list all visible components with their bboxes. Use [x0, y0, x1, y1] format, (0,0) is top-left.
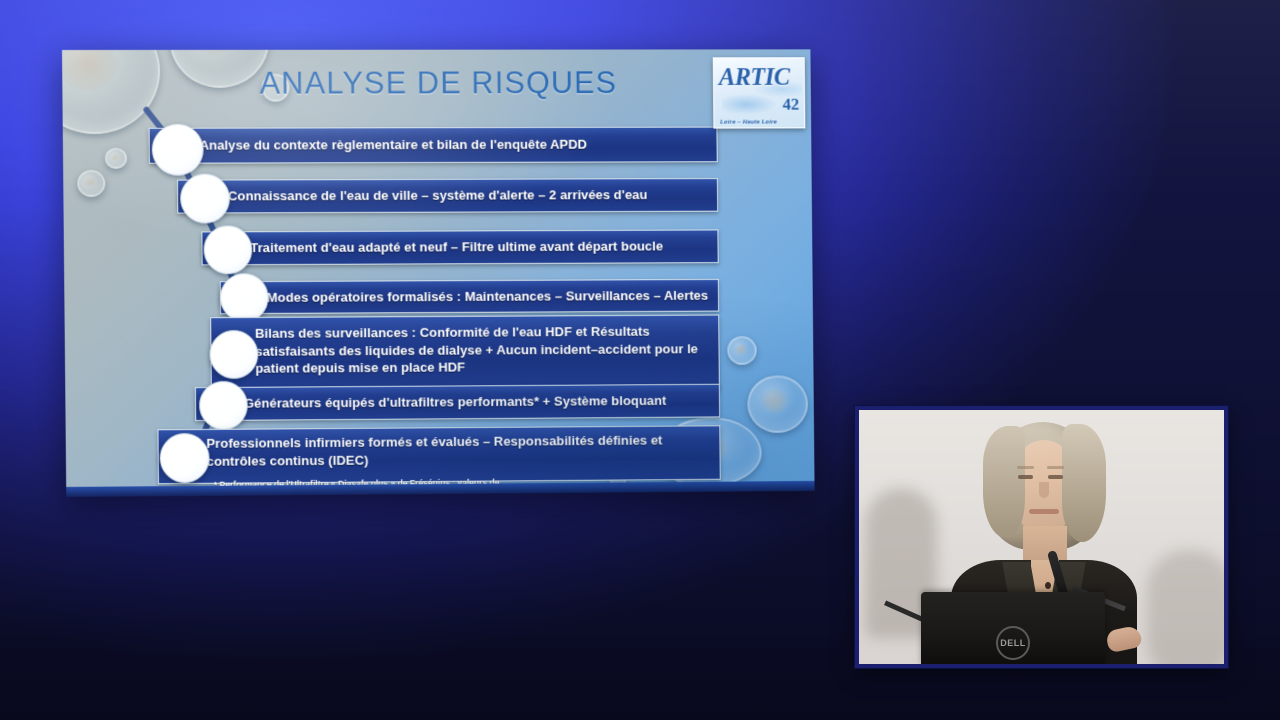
video-frame: DELL: [859, 410, 1224, 664]
speaker-video-inset[interactable]: DELL: [855, 406, 1228, 668]
mouth-shape: [1029, 509, 1059, 514]
projected-slide: ANALYSE DE RISQUES ARTIC 42 Loire – Haut…: [62, 49, 815, 497]
flow-item-label: Bilans des surveillances : Conformité de…: [255, 324, 698, 376]
eye-left: [1018, 475, 1033, 479]
flow-step-marker: [220, 273, 269, 322]
nose-shape: [1039, 482, 1049, 498]
bubble-decoration: [105, 148, 127, 169]
hair-front-left: [983, 426, 1025, 538]
dell-logo: DELL: [996, 626, 1030, 660]
artic-logo: ARTIC 42 Loire – Haute Loire: [713, 57, 806, 128]
flow-item-bar: Professionnels infirmiers formés et éval…: [157, 425, 720, 484]
flow-step-marker: [203, 225, 252, 274]
flow-item-label: Modes opératoires formalisés : Maintenan…: [267, 287, 709, 307]
flow-row: Bilans des surveillances : Conformité de…: [210, 315, 720, 392]
flow-row: Générateurs équipés d'ultrafiltres perfo…: [195, 384, 720, 421]
flow-item-bar: Traitement d'eau adapté et neuf – Filtre…: [201, 229, 718, 265]
necklace-pendant: [1045, 582, 1051, 589]
logo-subtitle: Loire – Haute Loire: [720, 120, 777, 126]
slide-title: ANALYSE DE RISQUES: [62, 65, 811, 102]
flow-step-marker: [209, 330, 258, 379]
slide-canvas: ANALYSE DE RISQUES ARTIC 42 Loire – Haut…: [62, 49, 815, 497]
flow-item-label: Analyse du contexte règlementaire et bil…: [199, 136, 587, 154]
bubble-decoration: [747, 375, 808, 433]
hair-front-right: [1062, 424, 1106, 542]
eyebrow-right: [1047, 466, 1064, 469]
flow-step-marker: [199, 381, 248, 430]
wall-shadow: [1147, 550, 1224, 664]
bubble-decoration: [727, 336, 757, 365]
laptop: DELL: [921, 592, 1105, 664]
eye-right: [1048, 475, 1063, 479]
flow-item-label: Connaissance de l'eau de ville – système…: [228, 186, 648, 205]
flow-item-bar: Analyse du contexte règlementaire et bil…: [149, 127, 718, 164]
presentation-stage: ANALYSE DE RISQUES ARTIC 42 Loire – Haut…: [0, 0, 1280, 720]
eyebrow-left: [1017, 466, 1034, 469]
logo-name: ARTIC: [719, 64, 790, 92]
flow-row: Traitement d'eau adapté et neuf – Filtre…: [201, 229, 718, 265]
flow-row: Modes opératoires formalisés : Maintenan…: [220, 279, 719, 314]
flow-row: Professionnels infirmiers formés et éval…: [157, 425, 720, 484]
bubble-decoration: [77, 170, 105, 197]
flow-row: Analyse du contexte règlementaire et bil…: [149, 127, 718, 164]
flow-step-marker: [180, 174, 230, 224]
logo-number: 42: [783, 95, 800, 115]
flow-item-label: Professionnels infirmiers formés et éval…: [206, 433, 662, 469]
flow-row: Connaissance de l'eau de ville – système…: [177, 178, 718, 214]
flow-item-label: Traitement d'eau adapté et neuf – Filtre…: [250, 238, 663, 257]
flow-item-bar: Modes opératoires formalisés : Maintenan…: [220, 279, 719, 314]
flow-item-bar: Connaissance de l'eau de ville – système…: [177, 178, 718, 214]
flow-item-bar: Générateurs équipés d'ultrafiltres perfo…: [195, 384, 720, 421]
flow-step-marker: [152, 124, 204, 176]
flow-item-label: Générateurs équipés d'ultrafiltres perfo…: [244, 392, 667, 412]
flow-item-bar: Bilans des surveillances : Conformité de…: [210, 315, 720, 392]
flow-step-marker: [159, 433, 209, 483]
